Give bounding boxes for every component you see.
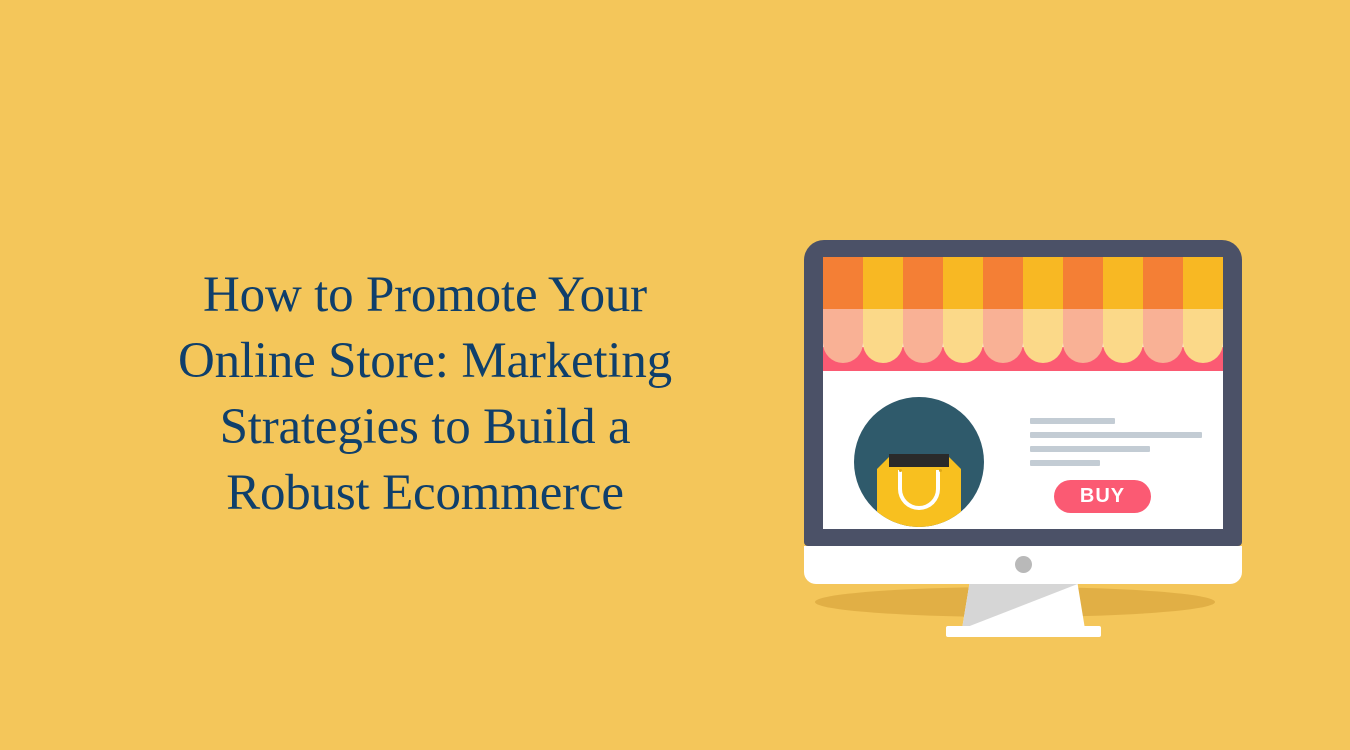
headline-line-1: How to Promote Your xyxy=(138,262,712,328)
placeholder-line xyxy=(1030,432,1202,438)
awning-stripe xyxy=(1143,257,1183,365)
buy-button[interactable]: BUY xyxy=(1054,480,1151,513)
placeholder-line xyxy=(1030,446,1150,452)
bag-handle-icon xyxy=(898,470,940,510)
bag-opening xyxy=(889,454,949,467)
bag-handle-rivet xyxy=(939,469,942,472)
awning-stripe xyxy=(863,257,903,365)
monitor-screen: BUY xyxy=(823,257,1223,529)
storefront-awning xyxy=(823,257,1223,365)
placeholder-line xyxy=(1030,460,1100,466)
bag-handle-rivet xyxy=(899,469,902,472)
monitor-stand-base xyxy=(946,626,1101,637)
power-indicator-dot xyxy=(1015,556,1032,573)
awning-stripe xyxy=(1103,257,1143,365)
awning-stripe xyxy=(1183,257,1223,365)
placeholder-line xyxy=(1030,418,1115,424)
awning-stripe xyxy=(1063,257,1103,365)
awning-stripe xyxy=(1023,257,1063,365)
headline-line-2: Online Store: Marketing xyxy=(138,328,712,394)
headline-line-4: Robust Ecommerce xyxy=(138,460,712,526)
banner-canvas: How to Promote Your Online Store: Market… xyxy=(0,0,1350,750)
awning-stripe xyxy=(823,257,863,365)
online-store-monitor-illustration: BUY xyxy=(795,232,1257,642)
page-title: How to Promote Your Online Store: Market… xyxy=(138,262,712,526)
awning-stripe xyxy=(903,257,943,365)
product-thumbnail[interactable] xyxy=(854,397,984,527)
headline-line-3: Strategies to Build a xyxy=(138,394,712,460)
product-description-placeholder xyxy=(1030,418,1210,474)
awning-stripe xyxy=(943,257,983,365)
awning-stripe xyxy=(983,257,1023,365)
